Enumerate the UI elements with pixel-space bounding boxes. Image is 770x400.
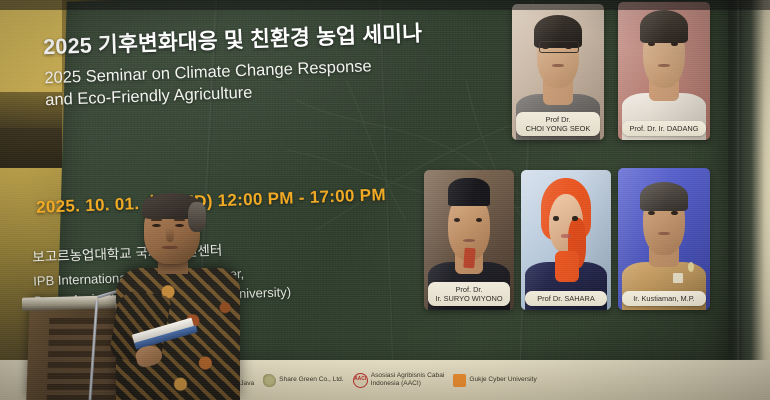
speaker-name-line2: CHOI YONG SEOK	[518, 124, 599, 133]
sponsor-name-line1: Asosiasi Agribisnis Cabai	[371, 372, 445, 380]
speaker-portrait: Ir. Kustiaman, M.P.	[618, 168, 710, 310]
suku-logo-icon	[453, 374, 466, 387]
presenter-hair-side	[188, 202, 206, 232]
speaker-name-plate: Ir. Kustiaman, M.P.	[622, 291, 707, 306]
event-photograph: 2025 기후변화대응 및 친환경 농업 세미나 2025 Seminar on…	[0, 0, 770, 400]
share-green-logo-icon	[263, 374, 276, 387]
peci-cap	[448, 178, 489, 206]
sponsor-item: AACI Asosiasi Agribisnis Cabai Indonesia…	[353, 372, 445, 388]
speaker-name-line1: Prof Dr. SAHARA	[527, 294, 606, 303]
speaker-portrait: Prof. Dr. Ir. DADANG	[618, 2, 710, 140]
speaker-name-line1: Prof Dr.	[518, 115, 599, 124]
speaker-name-plate: Prof. Dr. Ir. DADANG	[622, 121, 707, 136]
sponsor-name-line2: Indonesia (AACI)	[371, 380, 445, 388]
speaker-name-line2: Ir. SURYO WIYONO	[430, 294, 509, 303]
sponsor-item: Gukje Cyber University	[453, 374, 536, 387]
aaci-logo-icon: AACI	[353, 373, 368, 388]
speaker-name-line1: Prof. Dr. Ir. DADANG	[624, 124, 705, 133]
speaker-name-line1: Ir. Kustiaman, M.P.	[624, 294, 705, 303]
presenter-mouth	[162, 246, 178, 249]
speaker-name-line1: Prof. Dr.	[430, 285, 509, 294]
speaker-name-plate: Prof Dr. CHOI YONG SEOK	[516, 112, 601, 137]
speaker-portrait: Prof. Dr. Ir. SURYO WIYONO	[424, 170, 514, 310]
ceiling-shadow	[0, 0, 770, 10]
sponsor-item: Share Green Co., Ltd.	[263, 374, 344, 387]
presenter	[118, 196, 238, 400]
speaker-name-plate: Prof. Dr. Ir. SURYO WIYONO	[428, 282, 511, 307]
banner-title-block: 2025 기후변화대응 및 친환경 농업 세미나 2025 Seminar on…	[43, 14, 496, 112]
sponsor-name-line1: Gukje Cyber University	[469, 376, 536, 384]
speaker-portrait: Prof Dr. SAHARA	[521, 170, 611, 310]
name-tag-icon	[673, 273, 683, 283]
speaker-portrait: Prof Dr. CHOI YONG SEOK	[512, 4, 604, 140]
presenter-nose	[166, 228, 174, 242]
uniform-emblem-icon	[688, 262, 694, 272]
sponsor-name-line1: Share Green Co., Ltd.	[279, 376, 344, 384]
speaker-name-plate: Prof Dr. SAHARA	[525, 291, 608, 306]
